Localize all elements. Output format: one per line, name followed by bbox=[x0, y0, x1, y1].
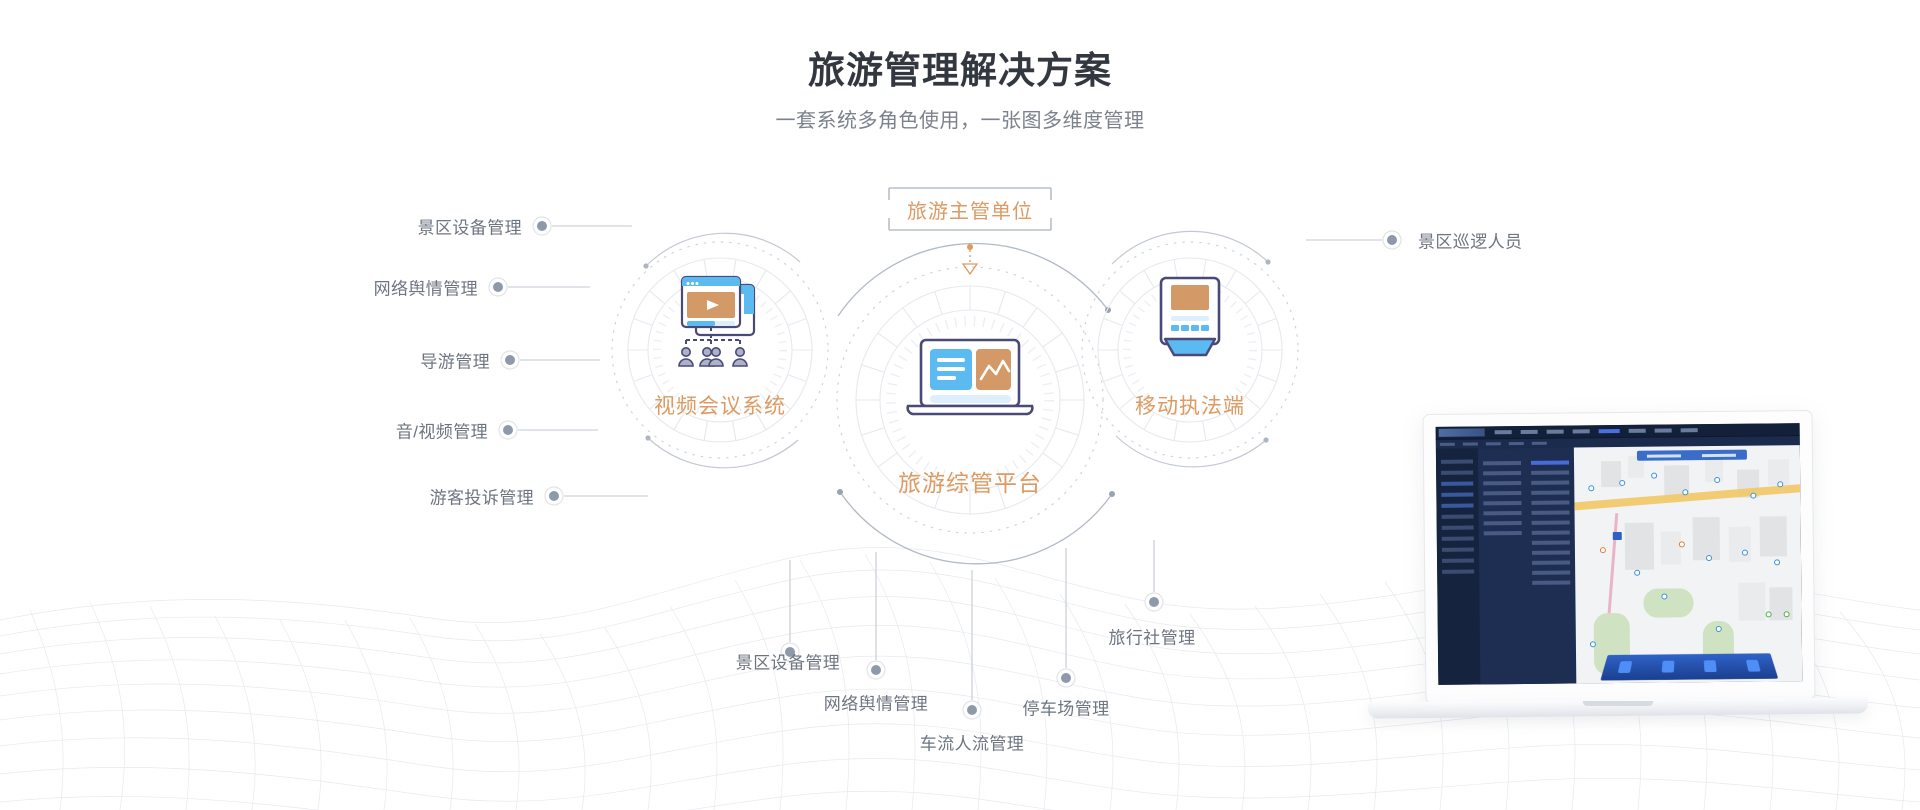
map-block bbox=[1661, 532, 1682, 565]
tree-row bbox=[1483, 471, 1521, 475]
screenshot-layer-panel bbox=[1478, 447, 1576, 684]
tree-row bbox=[1483, 501, 1521, 505]
map-toolbar-button[interactable] bbox=[1702, 453, 1736, 456]
sidebar-row bbox=[1442, 548, 1474, 552]
map-block bbox=[1738, 583, 1766, 621]
screenshot-menu-item-active bbox=[1599, 429, 1620, 433]
right-label-patrol-staff[interactable]: 景区巡逻人员 bbox=[1418, 228, 1522, 253]
screenshot-logo bbox=[1439, 428, 1485, 436]
legend-row bbox=[1532, 571, 1570, 575]
screenshot-menu-item bbox=[1629, 429, 1646, 433]
map-marker[interactable] bbox=[1751, 493, 1757, 499]
authority-connector bbox=[963, 244, 977, 274]
map-marker-green[interactable] bbox=[1783, 611, 1789, 617]
screenshot-map bbox=[1574, 445, 1802, 684]
map-marker[interactable] bbox=[1714, 477, 1720, 483]
map-marker[interactable] bbox=[1634, 570, 1640, 576]
map-marker[interactable] bbox=[1706, 555, 1712, 561]
screenshot-tab bbox=[1486, 442, 1501, 445]
sidebar-row bbox=[1442, 515, 1474, 519]
laptop-mockup bbox=[1368, 412, 1868, 764]
authority-label: 旅游主管单位 bbox=[907, 195, 1033, 224]
dock-icon-monitoring[interactable] bbox=[1746, 660, 1761, 672]
tree-row bbox=[1484, 511, 1522, 515]
map-toolbar-button[interactable] bbox=[1647, 454, 1681, 457]
map-marker[interactable] bbox=[1774, 559, 1780, 565]
handheld-device-icon bbox=[1161, 278, 1219, 355]
screenshot-tab bbox=[1532, 442, 1547, 445]
tree-row bbox=[1483, 491, 1521, 495]
screenshot-legend-column bbox=[1526, 451, 1576, 684]
map-marker-alert[interactable] bbox=[1679, 541, 1685, 547]
map-callout bbox=[1613, 532, 1622, 540]
sidebar-row-active bbox=[1441, 504, 1473, 508]
tree-row bbox=[1484, 521, 1522, 525]
caption-video-conference: 视频会议系统 bbox=[654, 390, 786, 420]
screenshot-body bbox=[1436, 445, 1802, 685]
caption-mobile-enforcement: 移动执法端 bbox=[1135, 390, 1245, 420]
map-block bbox=[1728, 526, 1751, 562]
map-top-toolbar[interactable] bbox=[1636, 450, 1746, 461]
bottom-label-public-opinion[interactable]: 网络舆情管理 bbox=[824, 690, 928, 715]
screenshot-sidebar bbox=[1436, 448, 1480, 684]
screenshot-tab bbox=[1440, 443, 1455, 446]
screenshot-tab bbox=[1463, 442, 1478, 445]
legend-row bbox=[1532, 541, 1570, 545]
left-label-scenic-equipment[interactable]: 景区设备管理 bbox=[418, 214, 522, 239]
left-connectors bbox=[508, 226, 648, 496]
screenshot-menu-item bbox=[1655, 428, 1672, 432]
legend-row bbox=[1531, 491, 1569, 495]
bottom-label-parking[interactable]: 停车场管理 bbox=[1023, 695, 1110, 720]
platform-screenshot[interactable] bbox=[1436, 423, 1803, 685]
screenshot-tab bbox=[1509, 442, 1524, 445]
map-block bbox=[1760, 516, 1788, 557]
video-window-icon bbox=[679, 277, 754, 366]
legend-row bbox=[1532, 581, 1570, 585]
bottom-label-traffic-flow[interactable]: 车流人流管理 bbox=[920, 730, 1024, 755]
legend-row bbox=[1532, 551, 1570, 555]
map-marker-alert[interactable] bbox=[1600, 547, 1606, 553]
sidebar-row-active bbox=[1441, 482, 1473, 486]
dock-icon-alarm-center[interactable] bbox=[1618, 661, 1633, 673]
legend-row bbox=[1532, 531, 1570, 535]
sidebar-row bbox=[1441, 460, 1473, 464]
map-marker-green[interactable] bbox=[1765, 611, 1771, 617]
laptop-lid bbox=[1422, 410, 1815, 704]
laptop-notch bbox=[1583, 701, 1653, 706]
sidebar-row-active bbox=[1441, 493, 1473, 497]
map-marker[interactable] bbox=[1589, 642, 1595, 648]
map-block bbox=[1692, 517, 1720, 560]
screenshot-menu-item bbox=[1681, 428, 1698, 432]
legend-row bbox=[1532, 561, 1570, 565]
legend-row bbox=[1531, 481, 1569, 485]
tree-row bbox=[1484, 531, 1522, 535]
laptop-dashboard-icon bbox=[908, 340, 1033, 414]
map-green-area bbox=[1643, 588, 1693, 617]
map-bottom-dock[interactable] bbox=[1600, 653, 1778, 680]
right-connectors bbox=[1306, 231, 1401, 249]
map-marker[interactable] bbox=[1661, 593, 1667, 599]
screenshot-menu-item bbox=[1573, 429, 1590, 433]
infographic-page: 旅游管理解决方案 一套系统多角色使用，一张图多维度管理 bbox=[0, 0, 1920, 810]
sidebar-row bbox=[1442, 537, 1474, 541]
left-label-av-management[interactable]: 音/视频管理 bbox=[396, 418, 488, 443]
screenshot-menu-item bbox=[1495, 430, 1512, 434]
map-marker[interactable] bbox=[1651, 473, 1657, 479]
legend-row bbox=[1531, 471, 1569, 475]
left-node-dots bbox=[489, 217, 563, 505]
bottom-label-scenic-equipment[interactable]: 景区设备管理 bbox=[736, 649, 840, 674]
sidebar-row bbox=[1441, 471, 1473, 475]
tree-row bbox=[1483, 481, 1521, 485]
authority-box[interactable]: 旅游主管单位 bbox=[888, 187, 1052, 231]
sidebar-row bbox=[1442, 526, 1474, 530]
screenshot-menu bbox=[1495, 428, 1698, 434]
map-marker[interactable] bbox=[1778, 481, 1784, 487]
left-label-guide-management[interactable]: 导游管理 bbox=[420, 348, 490, 373]
legend-row bbox=[1532, 511, 1570, 515]
screenshot-menu-item bbox=[1547, 430, 1564, 434]
left-label-public-opinion[interactable]: 网络舆情管理 bbox=[374, 275, 478, 300]
sidebar-row bbox=[1442, 570, 1474, 574]
dock-icon-parking[interactable] bbox=[1704, 660, 1717, 672]
legend-row bbox=[1531, 501, 1569, 505]
tree-row bbox=[1483, 461, 1521, 465]
legend-row bbox=[1532, 521, 1570, 525]
left-label-tourist-complaint[interactable]: 游客投诉管理 bbox=[430, 484, 534, 509]
screenshot-tree-column bbox=[1478, 452, 1528, 685]
map-secondary-road bbox=[1607, 513, 1618, 622]
map-marker[interactable] bbox=[1588, 485, 1594, 491]
bottom-label-travel-agency[interactable]: 旅行社管理 bbox=[1109, 624, 1196, 649]
legend-row-active bbox=[1531, 461, 1569, 465]
caption-tourism-platform: 旅游综管平台 bbox=[898, 464, 1042, 498]
map-marker[interactable] bbox=[1619, 480, 1625, 486]
map-block bbox=[1624, 522, 1654, 570]
dock-icon-event-handling[interactable] bbox=[1661, 661, 1674, 673]
screenshot-menu-item bbox=[1521, 430, 1538, 434]
sidebar-row bbox=[1442, 559, 1474, 563]
